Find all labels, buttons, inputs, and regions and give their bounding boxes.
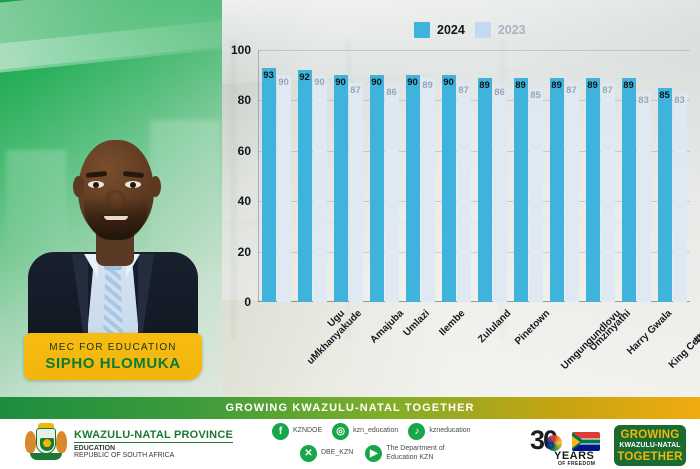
bar-value-label: 92 — [299, 72, 310, 83]
social-handle: The Department ofEducation KZN — [386, 445, 444, 462]
kzn-logo-line3: REPUBLIC OF SOUTH AFRICA — [74, 452, 233, 459]
bar-2024-King Cetshwayo[interactable]: 89 — [622, 78, 636, 302]
bar-value-label: 85 — [530, 90, 541, 101]
bar-group: 9089 — [402, 50, 438, 302]
bar-value-label: 89 — [515, 80, 526, 91]
bar-2023-Umgungundlovu[interactable]: 85 — [529, 88, 543, 302]
social-link-kzndoe[interactable]: fKZNDOE — [272, 423, 322, 440]
social-handle: kzn_education — [353, 427, 398, 436]
coat-shield — [36, 428, 56, 454]
y-axis-tick-0: 0 — [244, 295, 251, 309]
x-twitter-icon[interactable]: ✕ — [300, 445, 317, 462]
bar-value-label: 93 — [263, 70, 274, 81]
instagram-icon[interactable]: ◎ — [332, 423, 349, 440]
coat-of-arms-icon — [24, 423, 68, 465]
social-media-list: fKZNDOE◎kzn_education♪kzneducation✕DBE_K… — [272, 423, 502, 467]
poster-body: MEC FOR EDUCATION SIPHO HLOMUKA 20242023… — [0, 0, 700, 397]
social-handle: KZNDOE — [293, 427, 322, 436]
portrait-nose — [106, 190, 125, 209]
legend-swatch-2024 — [414, 22, 430, 38]
bar-2023-Ilembe[interactable]: 89 — [421, 78, 435, 302]
social-handle: kzneducation — [429, 427, 470, 436]
x-axis-label-Zululand: Zululand — [476, 308, 513, 345]
bar-2023-Ugu[interactable]: 90 — [313, 75, 327, 302]
bar-chart: 20242023 0204060801009390uMkhanyakude929… — [222, 14, 700, 394]
coat-lion-right — [56, 431, 67, 453]
bar-group: 9290 — [294, 50, 330, 302]
bar-value-label: 83 — [674, 95, 685, 106]
growing-together-banner: GROWING KWAZULU-NATAL TOGETHER — [0, 397, 700, 419]
x-axis-label-Ilembe: Ilembe — [437, 308, 467, 338]
bar-group: 8583 — [654, 50, 690, 302]
bar-value-label: 87 — [458, 85, 469, 96]
x-axis-label-Umgungundlovu: Umgungundlovu — [559, 308, 623, 372]
bar-value-label: 90 — [407, 77, 418, 88]
bar-value-label: 89 — [479, 80, 490, 91]
bar-value-label: 90 — [278, 77, 289, 88]
bar-value-label: 89 — [587, 80, 598, 91]
bar-value-label: 90 — [335, 77, 346, 88]
bar-value-label: 90 — [314, 77, 325, 88]
legend-item-2024[interactable]: 2024 — [414, 22, 465, 38]
banner-text: GROWING KWAZULU-NATAL TOGETHER — [225, 402, 474, 414]
south-africa-flag-icon — [572, 432, 600, 451]
bar-value-label: 90 — [443, 77, 454, 88]
legend-swatch-2023 — [475, 22, 491, 38]
y-axis-tick-20: 20 — [238, 245, 251, 259]
kzn-logo-text: KWAZULU-NATAL PROVINCE EDUCATION REPUBLI… — [74, 429, 233, 459]
bar-group: 8986 — [474, 50, 510, 302]
years-badge-freedom: OF FREEDOM — [558, 461, 595, 467]
bar-group: 9086 — [366, 50, 402, 302]
coat-base — [30, 453, 62, 460]
x-axis-label-Umlazi: Umlazi — [401, 308, 432, 339]
bar-value-label: 87 — [602, 85, 613, 96]
footer: KWAZULU-NATAL PROVINCE EDUCATION REPUBLI… — [0, 419, 700, 469]
mec-portrait-photo — [22, 68, 204, 368]
bar-2024-Umlazi[interactable]: 90 — [370, 75, 384, 302]
grow-badge-line1: GROWING — [621, 429, 680, 441]
bar-2023-uMkhanyakude[interactable]: 90 — [277, 75, 291, 302]
mec-role-label: MEC FOR EDUCATION — [49, 342, 176, 353]
y-axis-tick-80: 80 — [238, 93, 251, 107]
bar-2024-Umgungundlovu[interactable]: 89 — [514, 78, 528, 302]
grow-badge-line3: TOGETHER — [617, 451, 682, 463]
grow-badge-line2: KWAZULU-NATAL — [619, 442, 680, 450]
social-link-dbe_kzn[interactable]: ✕DBE_KZN — [300, 445, 353, 462]
mec-name-label: SIPHO HLOMUKA — [45, 355, 180, 372]
poster-screenshot: MEC FOR EDUCATION SIPHO HLOMUKA 20242023… — [0, 0, 700, 469]
years-badge-ring — [546, 435, 562, 451]
bar-2023-Umlazi[interactable]: 86 — [385, 85, 399, 302]
bar-group: 8987 — [582, 50, 618, 302]
mec-nameplate: MEC FOR EDUCATION SIPHO HLOMUKA — [24, 333, 202, 380]
x-axis-label-Uthukela: Uthukela — [692, 308, 700, 346]
social-link-kzn_education[interactable]: ◎kzn_education — [332, 423, 398, 440]
bar-2023-Amajuba[interactable]: 87 — [349, 83, 363, 302]
bar-value-label: 89 — [623, 80, 634, 91]
bar-2024-Uthukela[interactable]: 85 — [658, 88, 672, 302]
bar-2023-Uthukela[interactable]: 83 — [673, 93, 687, 302]
bar-2023-Harry Gwala[interactable]: 87 — [601, 83, 615, 302]
bar-value-label: 87 — [350, 85, 361, 96]
chart-legend: 20242023 — [414, 22, 526, 38]
coat-lion-left — [25, 431, 36, 453]
youtube-icon[interactable]: ▶ — [365, 445, 382, 462]
bar-value-label: 86 — [494, 87, 505, 98]
bar-value-label: 85 — [659, 90, 670, 101]
bar-2024-Zululand[interactable]: 90 — [442, 75, 456, 302]
left-green-panel: MEC FOR EDUCATION SIPHO HLOMUKA — [0, 0, 222, 397]
bar-value-label: 89 — [551, 80, 562, 91]
bar-2023-Pinetown[interactable]: 86 — [493, 85, 507, 302]
social-row: ✕DBE_KZN▶The Department ofEducation KZN — [300, 445, 502, 462]
social-link-the-department-of-education-kzn[interactable]: ▶The Department ofEducation KZN — [365, 445, 444, 462]
portrait-eye-right — [125, 181, 141, 188]
portrait-ear-right — [150, 176, 161, 197]
facebook-icon[interactable]: f — [272, 423, 289, 440]
y-axis-tick-40: 40 — [238, 194, 251, 208]
y-axis-tick-100: 100 — [231, 43, 251, 57]
bar-2024-Pinetown[interactable]: 89 — [478, 78, 492, 302]
thirty-years-of-freedom-logo: 30 YEARS OF FREEDOM — [528, 425, 606, 467]
social-handle: DBE_KZN — [321, 449, 353, 458]
legend-item-2023[interactable]: 2023 — [475, 22, 526, 38]
bar-2023-Umzinyathi[interactable]: 87 — [565, 83, 579, 302]
kzn-logo-line1: KWAZULU-NATAL PROVINCE — [74, 429, 233, 443]
legend-label-2023: 2023 — [498, 23, 526, 37]
bar-group: 9087 — [330, 50, 366, 302]
growing-kzn-together-badge: GROWING KWAZULU-NATAL TOGETHER — [614, 425, 686, 466]
bar-group: 8983 — [618, 50, 654, 302]
bar-2024-Umzinyathi[interactable]: 89 — [550, 78, 564, 302]
legend-label-2024: 2024 — [437, 23, 465, 37]
x-axis-label-Amajuba: Amajuba — [368, 308, 406, 346]
kzn-logo-line2: EDUCATION — [74, 445, 233, 452]
kzn-province-logo: KWAZULU-NATAL PROVINCE EDUCATION REPUBLI… — [24, 423, 233, 465]
bar-group: 8987 — [546, 50, 582, 302]
bar-2024-Ugu[interactable]: 92 — [298, 70, 312, 302]
bar-2023-King Cetshwayo[interactable]: 83 — [637, 93, 651, 302]
bar-value-label: 90 — [371, 77, 382, 88]
bar-value-label: 87 — [566, 85, 577, 96]
tiktok-icon[interactable]: ♪ — [408, 423, 425, 440]
bar-value-label: 89 — [422, 80, 433, 91]
y-axis-tick-60: 60 — [238, 144, 251, 158]
social-link-kzneducation[interactable]: ♪kzneducation — [408, 423, 470, 440]
portrait-eye-left — [88, 181, 104, 188]
bar-2024-Harry Gwala[interactable]: 89 — [586, 78, 600, 302]
bar-2023-Zululand[interactable]: 87 — [457, 83, 471, 302]
bar-group: 9390 — [258, 50, 294, 302]
bar-value-label: 86 — [386, 87, 397, 98]
bar-2024-uMkhanyakude[interactable]: 93 — [262, 68, 276, 302]
x-axis-label-Pinetown: Pinetown — [513, 308, 552, 347]
social-row: fKZNDOE◎kzn_education♪kzneducation — [272, 423, 502, 440]
bar-2024-Amajuba[interactable]: 90 — [334, 75, 348, 302]
chart-plot-area: 0204060801009390uMkhanyakude9290Ugu9087A… — [258, 50, 690, 302]
bar-value-label: 83 — [638, 95, 649, 106]
bar-group: 8985 — [510, 50, 546, 302]
portrait-ear-left — [73, 176, 84, 197]
bar-group: 9087 — [438, 50, 474, 302]
bar-2024-Ilembe[interactable]: 90 — [406, 75, 420, 302]
